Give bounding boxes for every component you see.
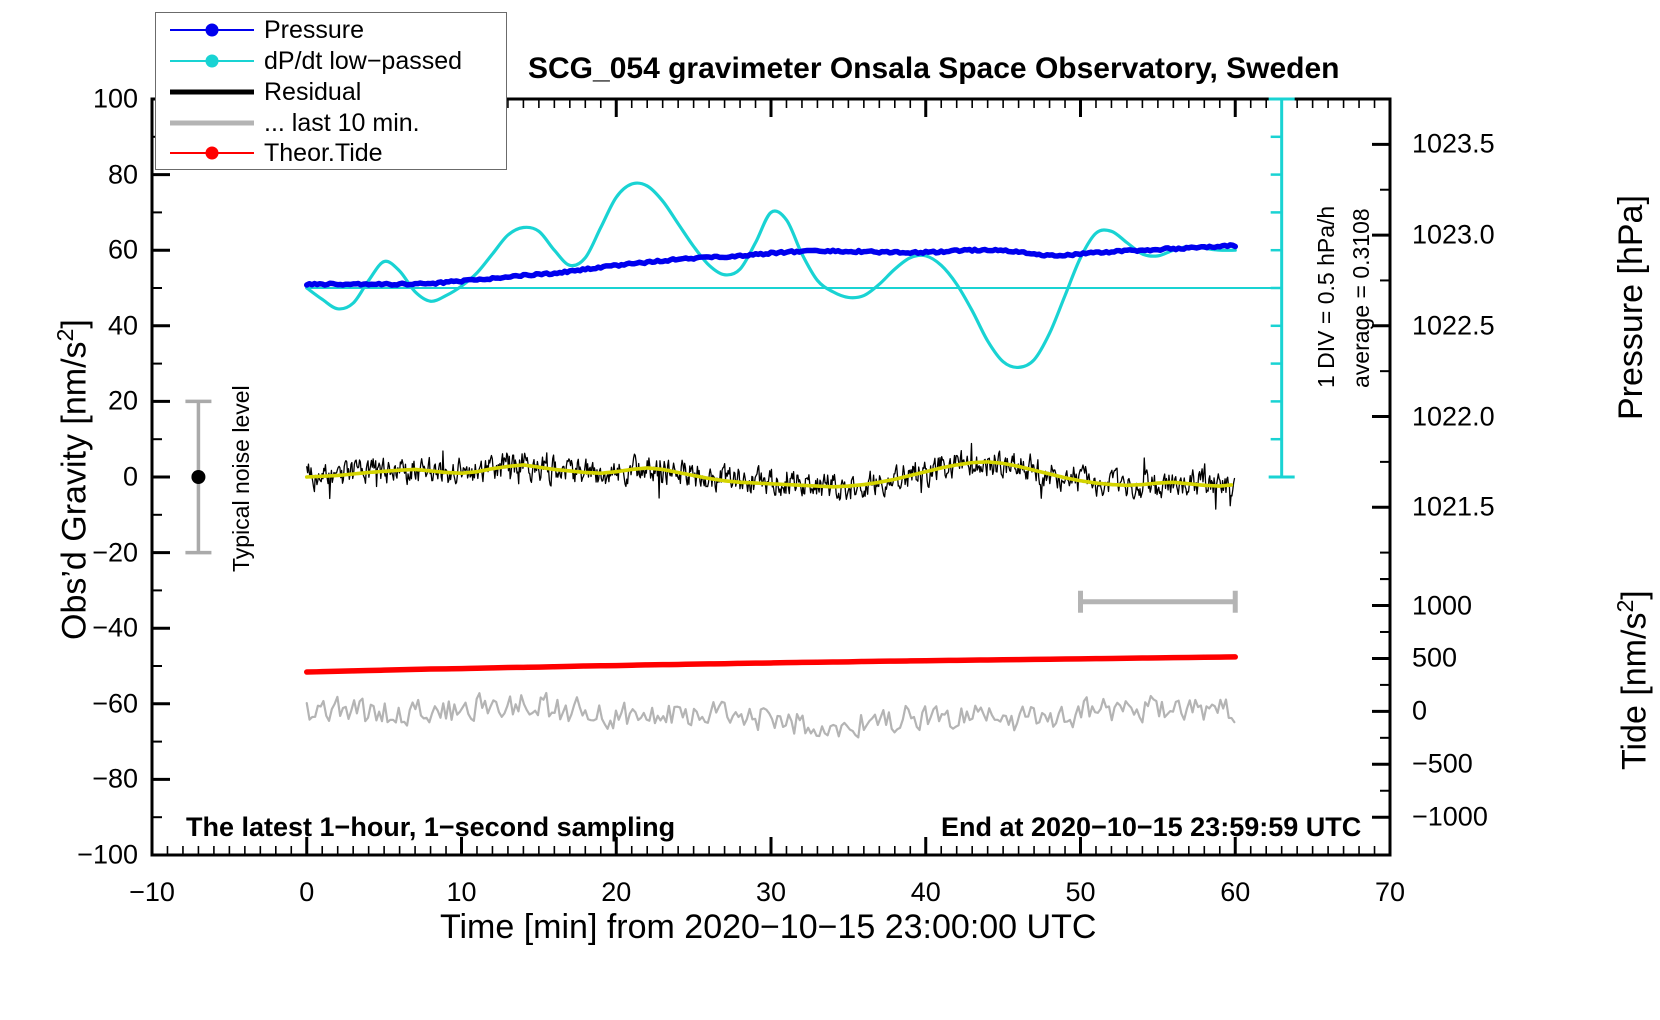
series-theor-tide [307,657,1236,672]
legend-label-theortide: Theor.Tide [264,139,383,167]
y-tick-label-left-8: −60 [92,688,138,719]
legend-line-dpdt [170,55,254,68]
y-tick-label-left-2: 60 [108,235,138,266]
legend-line-theortide [170,147,254,160]
y-tick-label-tide-2: 0 [1412,696,1427,727]
y-tick-label-left-4: 20 [108,386,138,417]
page-title: SCG_054 gravimeter Onsala Space Observat… [528,52,1340,86]
series-pressure [307,245,1236,285]
y-tick-label-tide-4: −1000 [1412,802,1488,833]
legend-label-last10: ... last 10 min. [264,109,420,137]
x-tick-label-6: 50 [1065,877,1095,908]
y-tick-label-tide-3: −500 [1412,749,1473,780]
noise-level-annotation: Typical noise level [228,385,255,572]
y-tick-label-left-10: −100 [77,840,138,871]
y-tick-label-tide-1: 500 [1412,643,1457,674]
x-tick-label-7: 60 [1220,877,1250,908]
y-axis-title-left-end: ] [55,319,93,328]
y-tick-label-pressure-0: 1023.5 [1412,129,1495,160]
x-tick-label-3: 20 [601,877,631,908]
y-axis-title-tide-end: ] [1615,590,1653,599]
average-annotation: average = 0.3108 [1348,208,1375,388]
gravimeter-plot-figure: Pressure dP/dt low−passed Residual ... l… [0,0,1660,1020]
y-tick-label-pressure-4: 1021.5 [1412,492,1495,523]
y-tick-label-pressure-1: 1023.0 [1412,220,1495,251]
y-axis-title-tide-text: Tide [nm/s [1615,613,1653,770]
y-tick-label-left-6: −20 [92,537,138,568]
legend: Pressure dP/dt low−passed Residual ... l… [155,12,507,170]
legend-label-pressure: Pressure [264,16,364,44]
y-tick-label-pressure-3: 1022.0 [1412,401,1495,432]
y-tick-label-left-0: 100 [93,84,138,115]
y-tick-label-left-1: 80 [108,159,138,190]
x-tick-label-2: 10 [446,877,476,908]
y-axis-title-left-text: Obs’d Gravity [nm/s [55,341,93,640]
y-tick-label-tide-0: 1000 [1412,590,1472,621]
div-scale-annotation: 1 DIV = 0.5 hPa/h [1313,206,1340,388]
x-tick-label-1: 0 [299,877,314,908]
series-last-10-min [307,693,1235,737]
y-tick-label-pressure-2: 1022.5 [1412,310,1495,341]
x-axis-title: Time [min] from 2020−10−15 23:00:00 UTC [440,908,1096,947]
legend-label-residual: Residual [264,78,361,106]
y-axis-title-tide-sup: 2 [1612,600,1638,613]
y-tick-label-left-3: 40 [108,310,138,341]
x-tick-label-8: 70 [1375,877,1405,908]
y-axis-title-left: Obs’d Gravity [nm/s2] [52,319,94,640]
legend-line-pressure [170,24,254,37]
x-tick-label-4: 30 [756,877,786,908]
y-axis-title-left-sup: 2 [52,329,78,342]
legend-label-dpdt: dP/dt low−passed [264,47,462,75]
y-tick-label-left-9: −80 [92,764,138,795]
footer-right-caption: End at 2020−10−15 23:59:59 UTC [941,812,1361,843]
noise-bar-center-dot [191,470,205,484]
x-tick-label-0: −10 [129,877,175,908]
y-axis-title-tide: Tide [nm/s2] [1612,590,1654,770]
series-residual [307,443,1235,509]
footer-left-caption: The latest 1−hour, 1−second sampling [186,812,675,843]
y-tick-label-left-7: −40 [92,613,138,644]
y-axis-title-pressure: Pressure [hPa] [1612,195,1651,420]
x-tick-label-5: 40 [911,877,941,908]
series-dpdt-low-passed [307,183,1236,367]
y-tick-label-left-5: 0 [123,462,138,493]
